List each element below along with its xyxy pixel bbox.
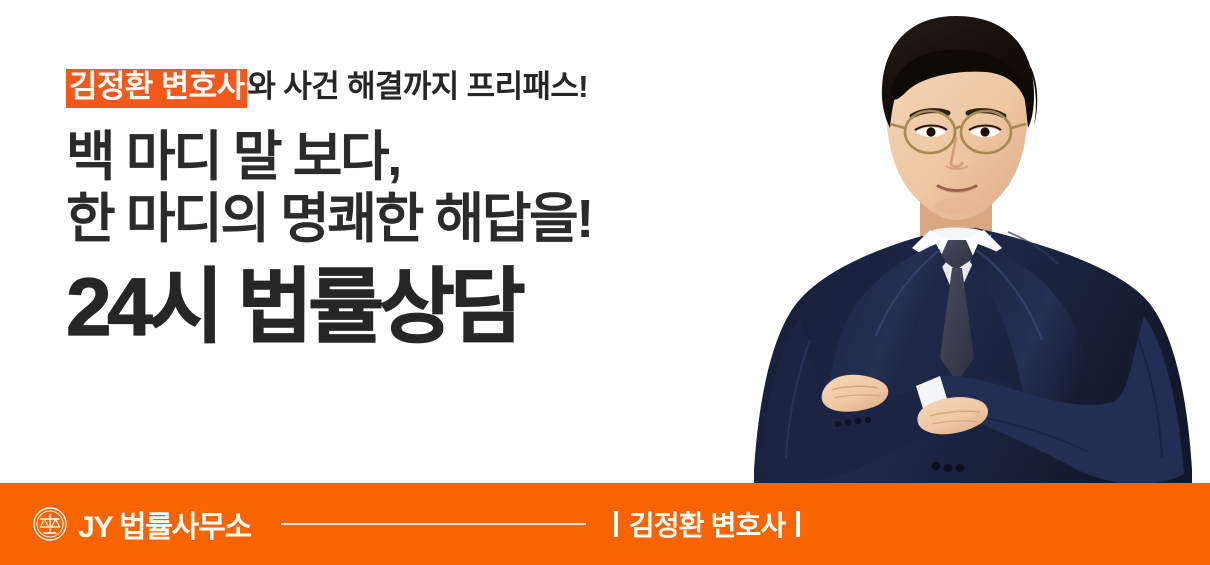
brand-name: JY 법률사무소 bbox=[78, 502, 251, 546]
footer-bar: JY 법률사무소 김정환 변호사 bbox=[0, 483, 1210, 565]
headline-line-2: 한 마디의 명쾌한 해답을! bbox=[66, 188, 766, 251]
scales-of-justice-icon bbox=[33, 507, 67, 541]
tagline-highlight: 김정환 변호사 bbox=[66, 69, 247, 108]
headline-line-1: 백 마디 말 보다, bbox=[66, 126, 766, 189]
tagline: 김정환 변호사와 사건 해결까지 프리패스! bbox=[66, 68, 766, 108]
big-headline: 24시 법률상담 bbox=[66, 265, 766, 351]
headline: 백 마디 말 보다, 한 마디의 명쾌한 해답을! bbox=[66, 126, 766, 251]
copy-block: 김정환 변호사와 사건 해결까지 프리패스! 백 마디 말 보다, 한 마디의 … bbox=[66, 68, 766, 351]
brand-logo[interactable]: JY 법률사무소 bbox=[33, 502, 251, 546]
attorney-photo bbox=[740, 0, 1210, 565]
tagline-rest: 와 사건 해결까지 프리패스! bbox=[247, 68, 588, 107]
law-office-promo-banner: 김정환 변호사와 사건 해결까지 프리패스! 백 마디 말 보다, 한 마디의 … bbox=[0, 0, 1210, 565]
separator-bar-left bbox=[614, 511, 618, 537]
attorney-name: 김정환 변호사 bbox=[629, 504, 785, 544]
attorney-name-block: 김정환 변호사 bbox=[614, 504, 800, 544]
footer-divider bbox=[281, 523, 586, 525]
separator-bar-right bbox=[796, 511, 800, 537]
